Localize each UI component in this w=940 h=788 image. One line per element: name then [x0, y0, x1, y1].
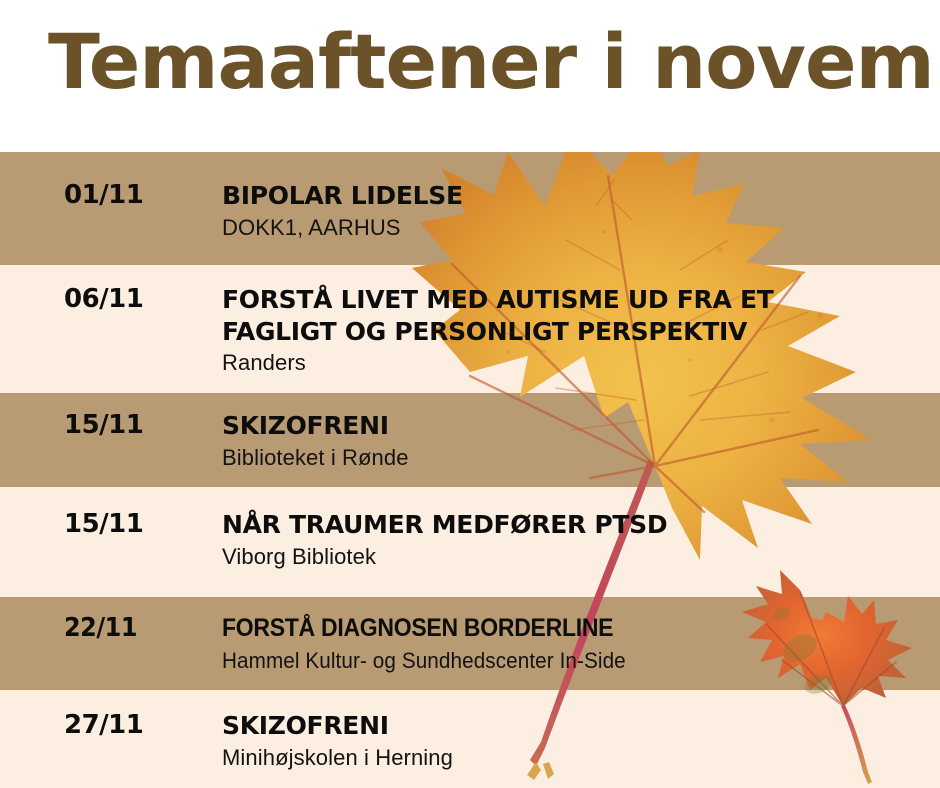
- event-title: FORSTÅ LIVET MED AUTISME UD FRA ET FAGLI…: [222, 284, 922, 347]
- event-title: FORSTÅ DIAGNOSEN BORDERLINE: [222, 613, 866, 645]
- event-venue: Biblioteket i Rønde: [222, 444, 922, 473]
- event-text-block: SKIZOFRENIMinihøjskolen i Herning: [222, 710, 922, 772]
- poster-header: Temaaftener i november: [0, 0, 940, 152]
- event-text-block: NÅR TRAUMER MEDFØRER PTSDViborg Bibliote…: [222, 509, 922, 571]
- event-venue: Minihøjskolen i Herning: [222, 744, 922, 773]
- event-title: SKIZOFRENI: [222, 710, 922, 742]
- schedule-row[interactable]: 27/11SKIZOFRENIMinihøjskolen i Herning: [0, 690, 940, 788]
- event-text-block: BIPOLAR LIDELSEDOKK1, AARHUS: [222, 180, 922, 242]
- page-title: Temaaftener i november: [48, 24, 908, 100]
- event-venue: Viborg Bibliotek: [222, 543, 922, 572]
- event-date: 06/11: [64, 284, 214, 314]
- event-text-block: FORSTÅ LIVET MED AUTISME UD FRA ET FAGLI…: [222, 284, 922, 378]
- schedule-row[interactable]: 15/11SKIZOFRENIBiblioteket i Rønde: [0, 393, 940, 487]
- poster-canvas: 01/11BIPOLAR LIDELSEDOKK1, AARHUS06/11FO…: [0, 0, 940, 788]
- event-date: 01/11: [64, 180, 214, 210]
- event-text-block: FORSTÅ DIAGNOSEN BORDERLINEHammel Kultur…: [222, 613, 922, 675]
- event-date: 27/11: [64, 710, 214, 740]
- event-title: SKIZOFRENI: [222, 410, 922, 442]
- event-title: NÅR TRAUMER MEDFØRER PTSD: [222, 509, 922, 541]
- schedule-row[interactable]: 15/11NÅR TRAUMER MEDFØRER PTSDViborg Bib…: [0, 487, 940, 597]
- event-venue: Hammel Kultur- og Sundhedscenter In-Side: [222, 647, 880, 676]
- schedule-row[interactable]: 01/11BIPOLAR LIDELSEDOKK1, AARHUS: [0, 152, 940, 265]
- event-venue: DOKK1, AARHUS: [222, 214, 922, 243]
- event-venue: Randers: [222, 349, 922, 378]
- event-date: 15/11: [64, 509, 214, 539]
- event-text-block: SKIZOFRENIBiblioteket i Rønde: [222, 410, 922, 472]
- event-title: BIPOLAR LIDELSE: [222, 180, 922, 212]
- event-date: 15/11: [64, 410, 214, 440]
- event-date: 22/11: [64, 613, 202, 643]
- schedule-row[interactable]: 06/11FORSTÅ LIVET MED AUTISME UD FRA ET …: [0, 265, 940, 393]
- schedule-row[interactable]: 22/11FORSTÅ DIAGNOSEN BORDERLINEHammel K…: [0, 597, 940, 690]
